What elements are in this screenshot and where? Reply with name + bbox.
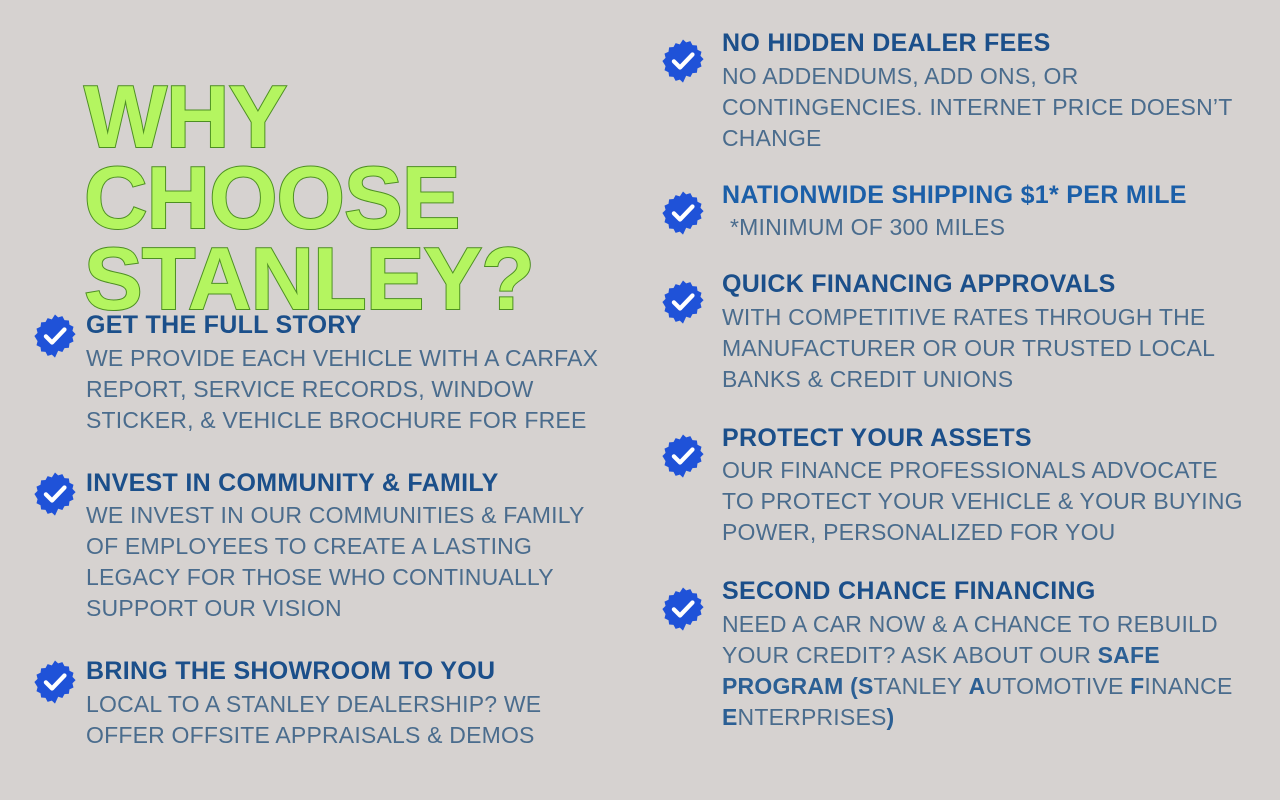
benefit-item-protect-your-assets: PROTECT YOUR ASSETS OUR FINANCE PROFESSI… bbox=[654, 423, 1254, 549]
benefit-body: WITH COMPETITIVE RATES THROUGH THE MANUF… bbox=[722, 302, 1254, 395]
benefit-title: SECOND CHANCE FINANCING bbox=[722, 576, 1254, 607]
benefit-title: GET THE FULL STORY bbox=[86, 310, 622, 341]
benefit-body: NO ADDENDUMS, ADD ONS, OR CONTINGENCIES.… bbox=[722, 61, 1254, 154]
headline-line-3: STANLEY? bbox=[84, 239, 624, 320]
benefit-item-get-the-full-story: GET THE FULL STORY WE PROVIDE EACH VEHIC… bbox=[26, 310, 622, 436]
benefit-item-quick-financing-approvals: QUICK FINANCING APPROVALS WITH COMPETITI… bbox=[654, 269, 1254, 395]
benefit-body: WE PROVIDE EACH VEHICLE WITH A CARFAX RE… bbox=[86, 343, 622, 436]
check-badge-icon bbox=[660, 190, 706, 236]
benefit-title: QUICK FINANCING APPROVALS bbox=[722, 269, 1254, 300]
benefit-body: NEED A CAR NOW & A CHANCE TO REBUILD YOU… bbox=[722, 609, 1254, 733]
benefit-title: BRING THE SHOWROOM TO YOU bbox=[86, 656, 622, 687]
benefit-title: NATIONWIDE SHIPPING $1* PER MILE bbox=[722, 180, 1254, 211]
benefit-title: PROTECT YOUR ASSETS bbox=[722, 423, 1254, 454]
benefit-body: LOCAL TO A STANLEY DEALERSHIP? WE OFFER … bbox=[86, 689, 622, 751]
check-badge-icon bbox=[32, 659, 78, 705]
check-badge-icon bbox=[660, 279, 706, 325]
benefit-item-invest-in-community-and-family: INVEST IN COMMUNITY & FAMILY WE INVEST I… bbox=[26, 468, 622, 625]
headline-line-1: WHY bbox=[84, 77, 624, 158]
benefit-item-no-hidden-dealer-fees: NO HIDDEN DEALER FEES NO ADDENDUMS, ADD … bbox=[654, 28, 1254, 154]
benefit-body: OUR FINANCE PROFESSIONALS ADVOCATE TO PR… bbox=[722, 455, 1254, 548]
check-badge-icon bbox=[660, 586, 706, 632]
benefit-body: WE INVEST IN OUR COMMUNITIES & FAMILY OF… bbox=[86, 500, 622, 624]
benefit-item-second-chance-financing: SECOND CHANCE FINANCING NEED A CAR NOW &… bbox=[654, 576, 1254, 733]
check-badge-icon bbox=[660, 38, 706, 84]
poster-canvas: WHY CHOOSE STANLEY? GET THE FULL STORY W… bbox=[0, 0, 1280, 800]
check-badge-icon bbox=[660, 433, 706, 479]
right-benefits-list: NO HIDDEN DEALER FEES NO ADDENDUMS, ADD … bbox=[654, 28, 1254, 733]
headline-line-2: CHOOSE bbox=[84, 158, 624, 239]
check-badge-icon bbox=[32, 471, 78, 517]
left-benefits-list: GET THE FULL STORY WE PROVIDE EACH VEHIC… bbox=[26, 310, 622, 751]
benefit-item-nationwide-shipping: NATIONWIDE SHIPPING $1* PER MILE *MINIMU… bbox=[654, 180, 1254, 244]
benefit-title: INVEST IN COMMUNITY & FAMILY bbox=[86, 468, 622, 499]
benefit-body: *MINIMUM OF 300 MILES bbox=[722, 212, 1254, 243]
page-title: WHY CHOOSE STANLEY? bbox=[84, 77, 624, 320]
check-badge-icon bbox=[32, 313, 78, 359]
benefit-item-bring-the-showroom-to-you: BRING THE SHOWROOM TO YOU LOCAL TO A STA… bbox=[26, 656, 622, 751]
benefit-title: NO HIDDEN DEALER FEES bbox=[722, 28, 1254, 59]
